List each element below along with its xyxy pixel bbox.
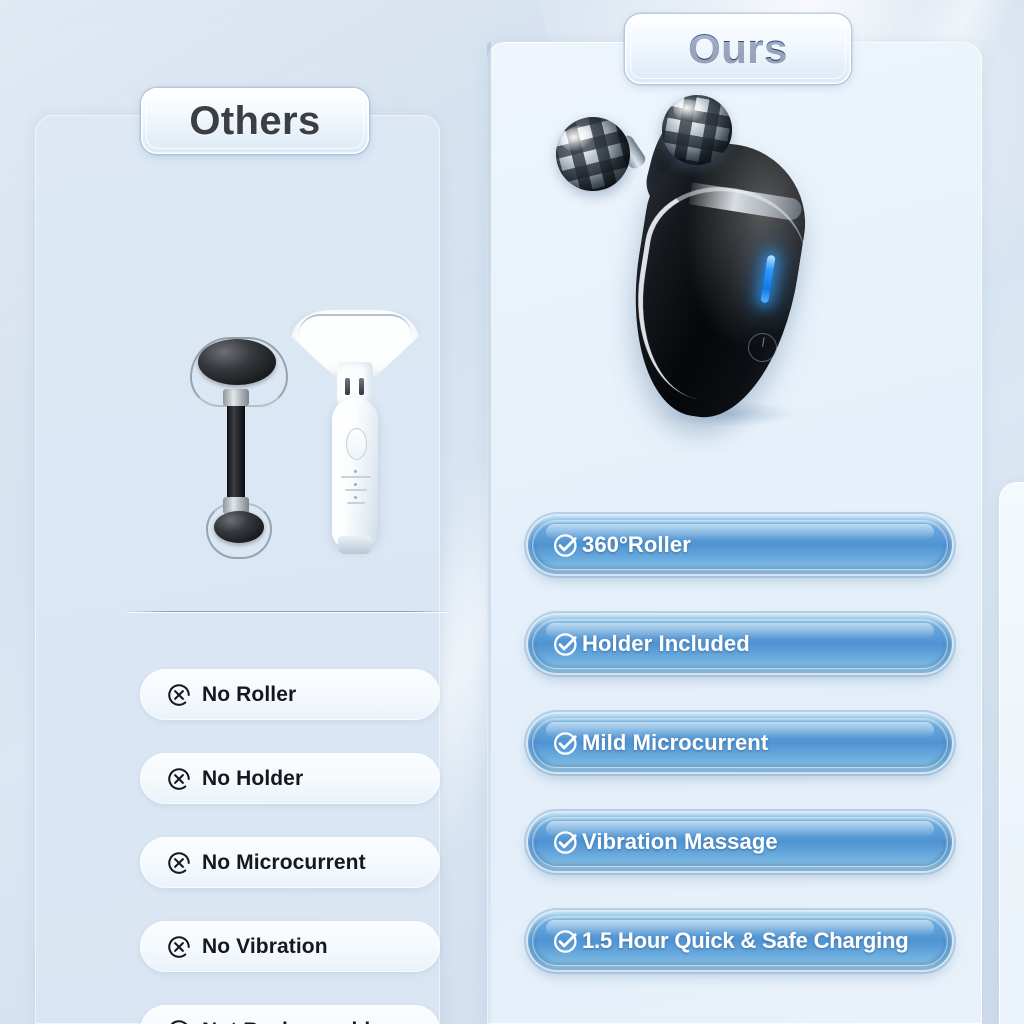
neck-device-base (338, 536, 372, 554)
circle-x-icon (166, 1018, 192, 1024)
neck-device-head-line (298, 314, 412, 336)
roller-ball-pattern (548, 109, 638, 199)
circle-check-icon (552, 927, 581, 956)
ours-feature-list: 360°Roller Holder Included Mild Microcur… (528, 516, 952, 970)
neck-device-label-3 (340, 502, 372, 506)
circle-check-icon (552, 828, 581, 857)
ours-feature-label: Vibration Massage (582, 829, 778, 855)
ours-feature-label: Mild Microcurrent (582, 730, 768, 756)
others-title-text: Others (189, 101, 320, 141)
neck-device-prong-right (359, 378, 364, 395)
ours-feature-card (999, 482, 1024, 1024)
neck-device-label-2 (340, 489, 372, 493)
roller-handle (227, 397, 245, 507)
ours-product-image (540, 95, 870, 445)
circle-check-icon (552, 531, 581, 560)
jade-roller-image (180, 315, 290, 575)
roller-stone-small (214, 511, 264, 543)
ours-feature-label: 360°Roller (582, 532, 691, 558)
circle-x-icon (166, 934, 192, 960)
others-feature-item: No Holder (140, 753, 440, 804)
others-divider (127, 611, 449, 612)
device-roller-ball-right (656, 89, 737, 170)
neck-device-indicator-1 (354, 470, 357, 473)
others-feature-label: Not Rechargeable (202, 1019, 382, 1024)
others-product-images (90, 290, 455, 590)
others-feature-label: No Vibration (202, 935, 328, 959)
circle-x-icon (166, 850, 192, 876)
circle-x-icon (166, 682, 192, 708)
others-feature-label: No Microcurrent (202, 851, 366, 875)
others-panel: No Roller No Holder No Microcurrent (35, 115, 440, 1024)
circle-check-icon (552, 729, 581, 758)
others-feature-item: No Microcurrent (140, 837, 440, 888)
others-feature-item: No Roller (140, 669, 440, 720)
comparison-infographic: No Roller No Holder No Microcurrent (0, 0, 1024, 1024)
ours-title-badge: Ours (625, 14, 851, 84)
neck-device-label-1 (340, 476, 372, 480)
ours-feature-item: 1.5 Hour Quick & Safe Charging (528, 912, 952, 970)
neck-device-indicator-2 (354, 483, 357, 486)
neck-device-indicator-3 (354, 496, 357, 499)
others-feature-item: No Vibration (140, 921, 440, 972)
ours-feature-item: Vibration Massage (528, 813, 952, 871)
circle-check-icon (552, 630, 581, 659)
others-title-badge: Others (141, 88, 369, 154)
ours-title-text: Ours (688, 28, 788, 70)
ours-feature-item: Holder Included (528, 615, 952, 673)
others-feature-label: No Roller (202, 683, 296, 707)
others-feature-item: Not Rechargeable (140, 1005, 440, 1024)
roller-stone-large (198, 339, 276, 385)
neck-massager-image (290, 300, 420, 565)
neck-device-power-button (346, 428, 367, 460)
ours-feature-item: 360°Roller (528, 516, 952, 574)
ours-feature-label: 1.5 Hour Quick & Safe Charging (582, 928, 909, 954)
neck-device-body (332, 398, 378, 548)
ours-feature-label: Holder Included (582, 631, 750, 657)
others-feature-label: No Holder (202, 767, 303, 791)
others-feature-list: No Roller No Holder No Microcurrent (140, 669, 440, 1024)
device-roller-ball-left (548, 109, 638, 199)
neck-device-prong-left (345, 378, 350, 395)
ours-feature-item: Mild Microcurrent (528, 714, 952, 772)
roller-collar-top (223, 389, 249, 406)
circle-x-icon (166, 766, 192, 792)
